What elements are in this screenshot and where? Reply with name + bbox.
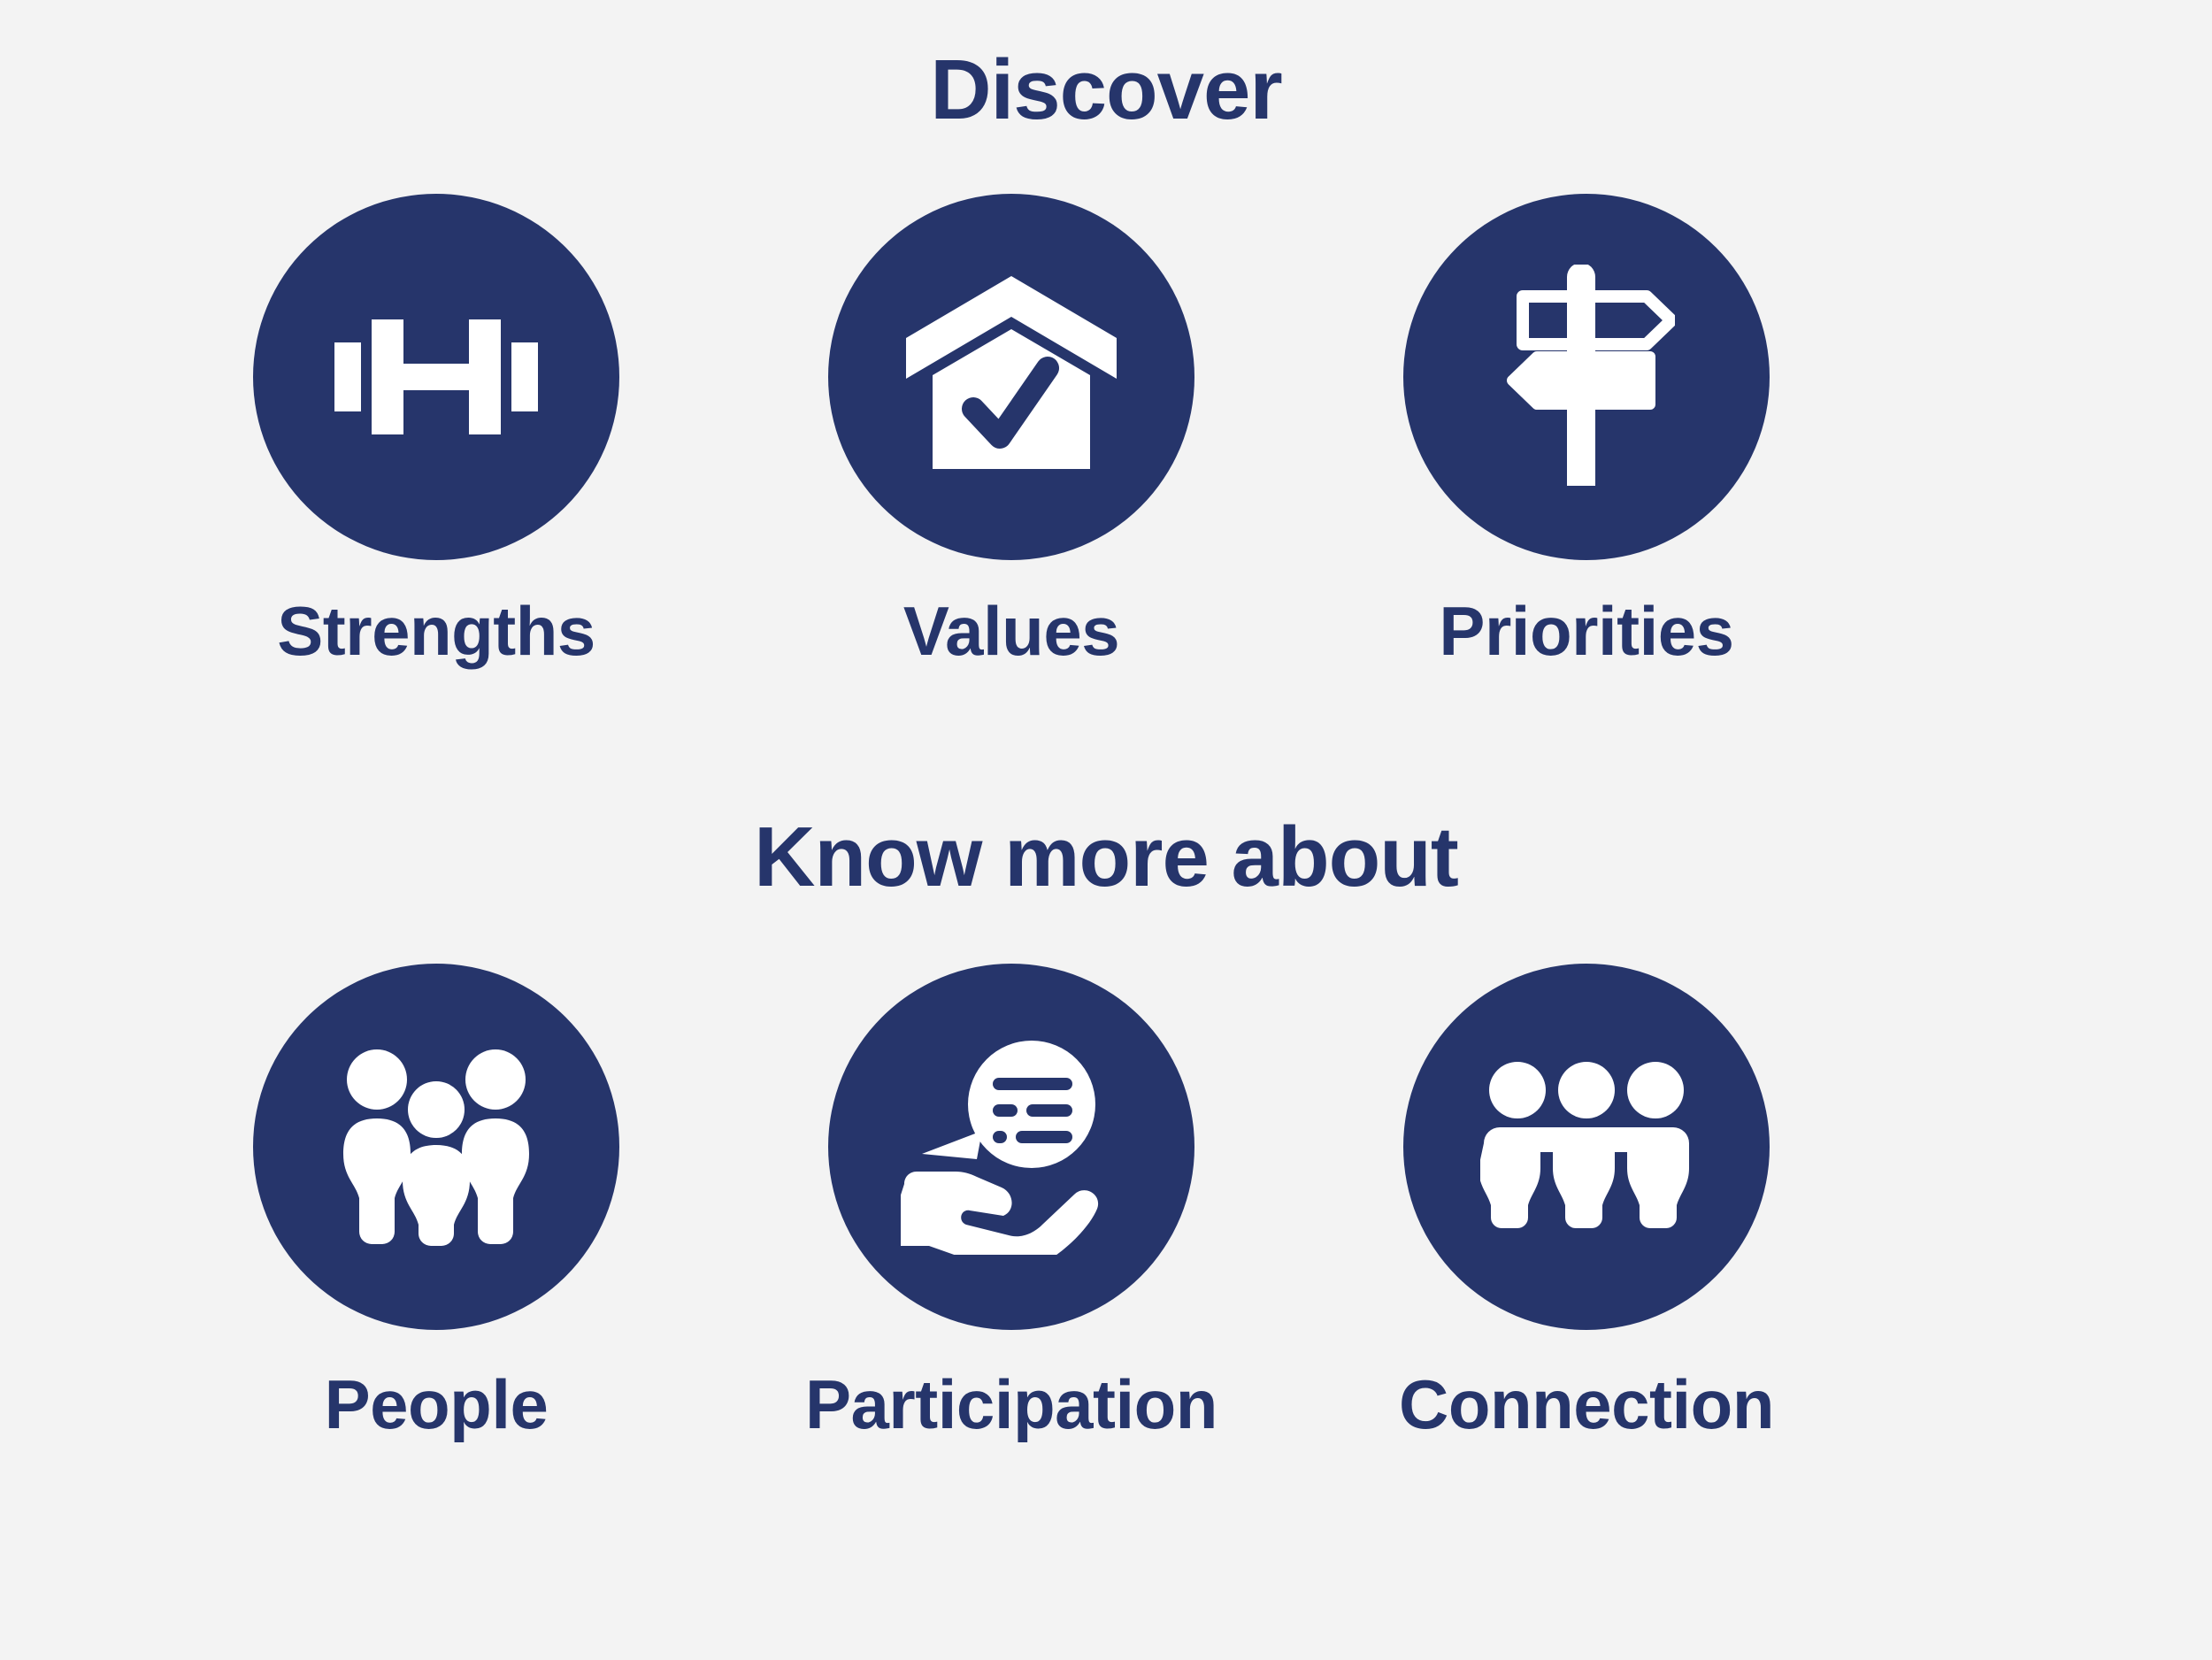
dumbbell-icon bbox=[334, 311, 538, 443]
card-participation[interactable]: Participation bbox=[724, 964, 1299, 1443]
card-label-strengths: Strengths bbox=[277, 594, 595, 670]
house-check-icon bbox=[906, 276, 1117, 478]
section-title-know-more-about: Know more about bbox=[0, 813, 2212, 903]
badge-strengths[interactable] bbox=[253, 194, 619, 560]
card-values[interactable]: Values bbox=[724, 194, 1299, 670]
badge-values[interactable] bbox=[828, 194, 1194, 560]
people-linked-arms-icon bbox=[1480, 1058, 1693, 1235]
card-label-values: Values bbox=[903, 594, 1119, 670]
card-connection[interactable]: Connection bbox=[1299, 964, 1874, 1443]
card-row-discover: Strengths Valu bbox=[0, 194, 2212, 670]
badge-people[interactable] bbox=[253, 964, 619, 1330]
card-label-people: People bbox=[325, 1367, 549, 1443]
badge-priorities[interactable] bbox=[1403, 194, 1770, 560]
card-priorities[interactable]: Priorities bbox=[1299, 194, 1874, 670]
card-row-know-more-about: People bbox=[0, 964, 2212, 1443]
card-label-connection: Connection bbox=[1399, 1367, 1774, 1443]
section-know-more-about: Know more about bbox=[0, 813, 2212, 1444]
section-title-discover: Discover bbox=[0, 46, 2212, 135]
hand-speech-bubble-icon bbox=[901, 1039, 1122, 1255]
card-people[interactable]: People bbox=[149, 964, 724, 1443]
card-label-participation: Participation bbox=[805, 1367, 1217, 1443]
badge-connection[interactable] bbox=[1403, 964, 1770, 1330]
card-strengths[interactable]: Strengths bbox=[149, 194, 724, 670]
infographic-page: Discover Strengths bbox=[0, 0, 2212, 1660]
badge-participation[interactable] bbox=[828, 964, 1194, 1330]
section-discover: Discover Strengths bbox=[0, 46, 2212, 670]
signpost-icon bbox=[1498, 265, 1675, 489]
three-people-icon bbox=[336, 1048, 536, 1246]
card-label-priorities: Priorities bbox=[1439, 594, 1733, 670]
